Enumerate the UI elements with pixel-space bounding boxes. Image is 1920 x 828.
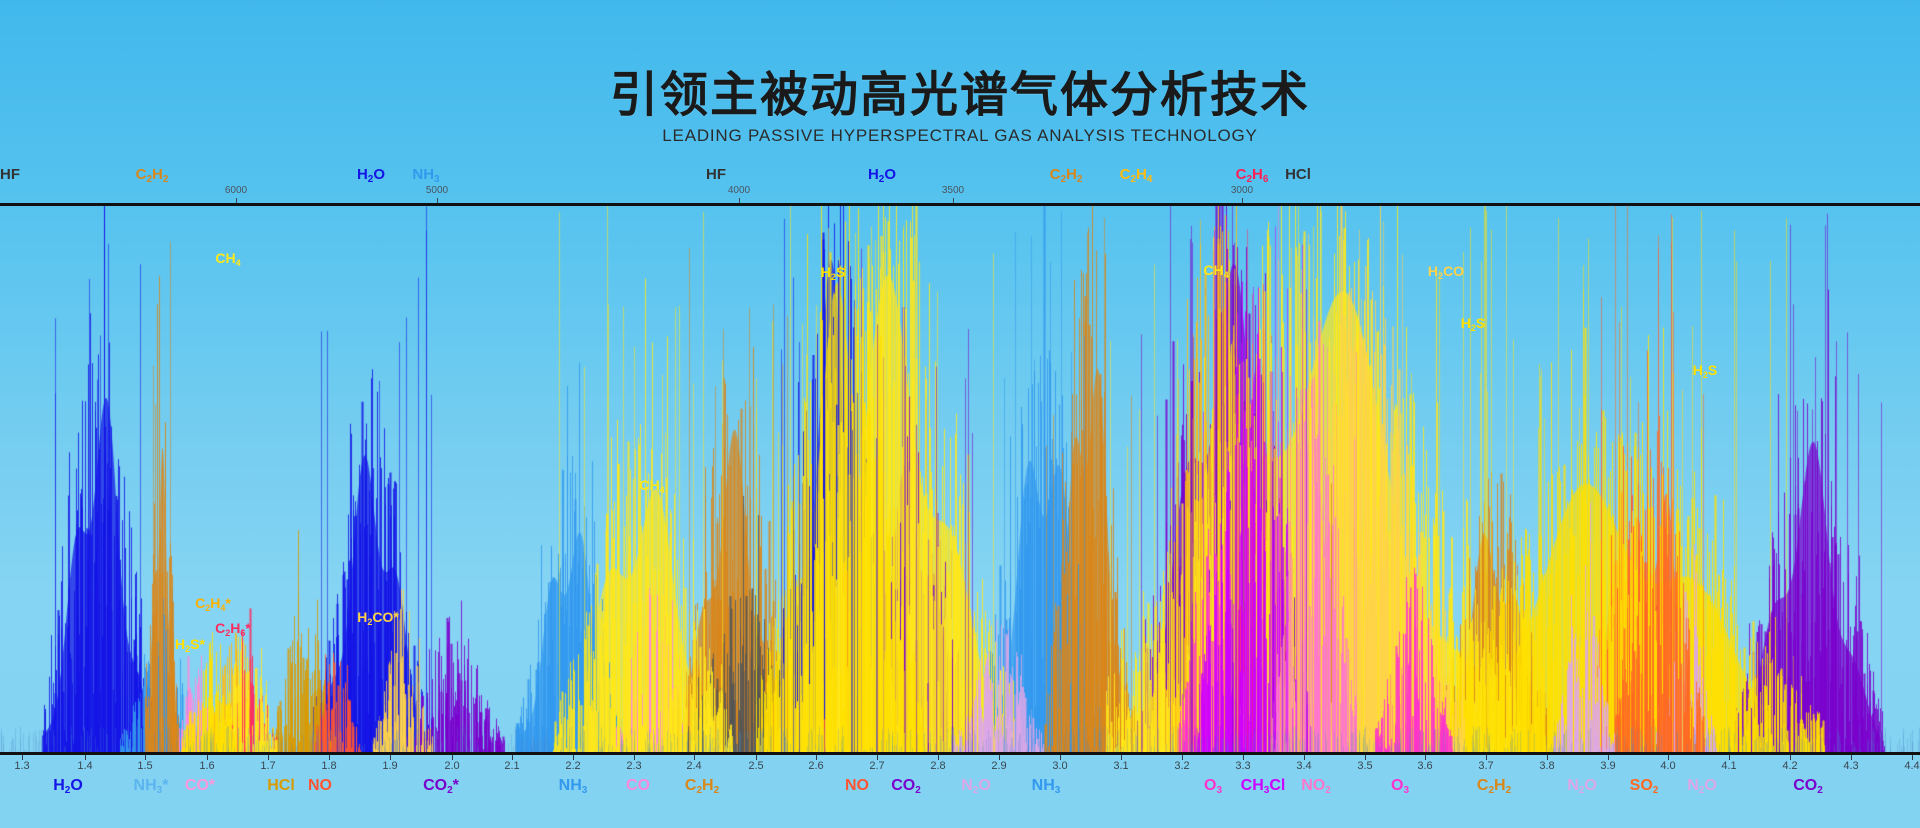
page-title: 引领主被动高光谱气体分析技术	[0, 55, 1920, 125]
wavelength-tick-label: 3.9	[1600, 760, 1615, 772]
wavenumber-tick-label: 3000	[1231, 185, 1253, 196]
spectrum-plot: CH4C2H4*C2H6*H2S*H2CO*CH4H2SCH4H2COH2SH2…	[0, 206, 1920, 752]
wavelength-tick-label: 2.7	[869, 760, 884, 772]
top-gas-label-c2h2b: C2H2	[1050, 166, 1083, 183]
wavelength-tick-label: 3.5	[1357, 760, 1372, 772]
wavenumber-tick-label: 6000	[225, 185, 247, 196]
wavelength-tick-label: 1.8	[321, 760, 336, 772]
wavelength-tick-label: 4.1	[1721, 760, 1736, 772]
wavelength-tick-label: 2.8	[930, 760, 945, 772]
wavelength-tick-label: 3.2	[1174, 760, 1189, 772]
wavelength-tick-label: 4.4	[1904, 760, 1919, 772]
top-gas-label-hf2: HF	[706, 166, 726, 183]
wavelength-tick-label: 1.4	[77, 760, 92, 772]
top-gas-label-c2h4: C2H4	[1120, 166, 1153, 183]
wavelength-tick-label: 4.3	[1843, 760, 1858, 772]
wavenumber-tick-label: 4000	[728, 185, 750, 196]
wavenumber-tick-label: 5000	[426, 185, 448, 196]
wavelength-tick-label: 4.2	[1782, 760, 1797, 772]
top-gas-label-c2h6: C2H6	[1236, 166, 1269, 183]
bottom-gas-label-nh3-c: NH3	[559, 777, 588, 795]
bottom-gas-label-nh3-b: NH3*	[134, 777, 169, 795]
top-gas-label-hf: HF	[0, 166, 20, 183]
wavelength-tick-label: 2.1	[504, 760, 519, 772]
bottom-gas-label-co2-b: CO2*	[423, 777, 459, 795]
page-subtitle: LEADING PASSIVE HYPERSPECTRAL GAS ANALYS…	[0, 126, 1920, 146]
wavelength-tick-label: 2.4	[686, 760, 701, 772]
wavelength-tick-label: 2.3	[626, 760, 641, 772]
top-gas-label-hcl: HCl	[1285, 166, 1311, 183]
wavelength-tick-label: 2.6	[808, 760, 823, 772]
wavelength-tick-label: 2.0	[444, 760, 459, 772]
wavelength-tick-label: 2.2	[565, 760, 580, 772]
bottom-gas-label-n2o-c: N2O	[961, 777, 991, 795]
bottom-gas-label-co-c: CO	[626, 777, 650, 795]
wavelength-tick-label: 1.6	[199, 760, 214, 772]
bottom-gas-label-o3-d: O3	[1204, 777, 1222, 795]
spectrum-canvas	[0, 206, 1920, 752]
top-gas-label-h2o2: H2O	[868, 166, 896, 183]
wavelength-tick-label: 3.3	[1235, 760, 1250, 772]
wavelength-tick-label: 1.5	[137, 760, 152, 772]
bottom-gas-label-so2-e: SO2	[1630, 777, 1659, 795]
wavenumber-tick-label: 3500	[942, 185, 964, 196]
bottom-gas-label-c2h2-c: C2H2	[685, 777, 719, 795]
bottom-gas-label-no-c: NO	[845, 777, 869, 795]
bottom-gas-label-c2h2-e: C2H2	[1477, 777, 1511, 795]
wavelength-tick-label: 3.7	[1478, 760, 1493, 772]
bottom-gas-label-no-b: NO	[308, 777, 332, 795]
wavelength-tick-label: 1.9	[382, 760, 397, 772]
wavelength-tick-label: 2.5	[748, 760, 763, 772]
wavelength-tick-label: 1.7	[260, 760, 275, 772]
top-gas-label-h2o: H2O	[357, 166, 385, 183]
wavelength-tick-label: 3.4	[1296, 760, 1311, 772]
bottom-wavelength-axis: 1.31.41.51.61.71.81.92.02.12.22.32.42.52…	[0, 755, 1920, 828]
bottom-gas-label-n2o-e: N2O	[1567, 777, 1597, 795]
top-gas-label-c2h2: C2H2	[136, 166, 169, 183]
bottom-gas-label-co-b: CO*	[185, 777, 215, 795]
bottom-gas-label-no2-d: NO2	[1301, 777, 1331, 795]
wavelength-tick-label: 1.3	[14, 760, 29, 772]
bottom-gas-label-ch3cl-d: CH3Cl	[1241, 777, 1286, 795]
bottom-gas-label-o3-e: O3	[1391, 777, 1409, 795]
wavelength-tick-label: 3.0	[1052, 760, 1067, 772]
top-gas-label-nh3: NH3	[412, 166, 439, 183]
bottom-gas-label-h2o-b: H2O	[53, 777, 83, 795]
bottom-gas-label-hcl-b: HCl	[267, 777, 295, 795]
wavelength-tick-label: 3.1	[1113, 760, 1128, 772]
header: 引领主被动高光谱气体分析技术 LEADING PASSIVE HYPERSPEC…	[0, 0, 1920, 198]
wavelength-tick-label: 4.0	[1660, 760, 1675, 772]
bottom-gas-label-co2-f: CO2	[1793, 777, 1823, 795]
wavelength-tick-label: 3.8	[1539, 760, 1554, 772]
bottom-gas-label-co2-c: CO2	[891, 777, 921, 795]
bottom-gas-label-nh3-d: NH3	[1032, 777, 1061, 795]
poster-root: 引领主被动高光谱气体分析技术 LEADING PASSIVE HYPERSPEC…	[0, 0, 1920, 828]
wavelength-tick-label: 2.9	[991, 760, 1006, 772]
wavelength-tick-label: 3.6	[1417, 760, 1432, 772]
bottom-gas-label-n2o-f: N2O	[1687, 777, 1717, 795]
